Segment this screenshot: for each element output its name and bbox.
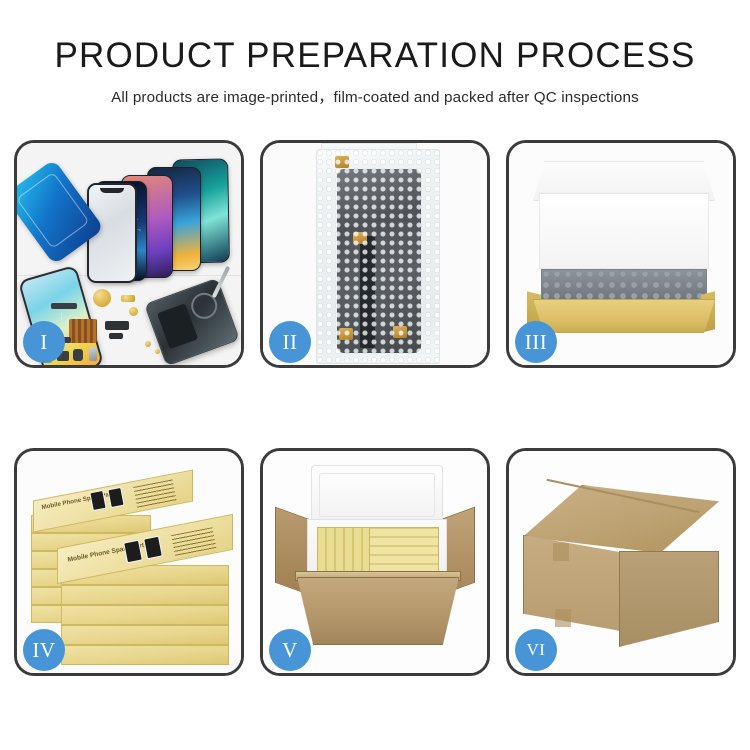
step-badge-5: V [269,629,311,671]
header: PRODUCT PREPARATION PROCESS All products… [0,0,750,107]
step-badge-4: IV [23,629,65,671]
step-panel-2[interactable]: II [260,140,490,368]
carton-body-icon [297,577,459,645]
bubble-wrap-bag-icon [316,149,440,364]
step-panel-6[interactable]: VI [506,448,736,676]
foam-lid-icon [311,465,443,525]
step-badge-3: III [515,321,557,363]
step-badge-1: I [23,321,65,363]
page-subtitle: All products are image-printed，film-coat… [0,85,750,107]
product-preparation-infographic: PRODUCT PREPARATION PROCESS All products… [0,0,750,750]
tape-patch-top-icon [553,543,569,561]
packed-boxes-secondary-icon [369,527,439,573]
steps-grid: I II [14,140,736,676]
boxes-stack-icon: Mobile Phone Spare Parts Mobile Phone Sp… [31,469,231,665]
step-panel-4[interactable]: Mobile Phone Spare Parts Mobile Phone Sp… [14,448,244,676]
step-panel-5[interactable]: V [260,448,490,676]
page-title: PRODUCT PREPARATION PROCESS [0,36,750,76]
kraft-box-front-icon [533,299,715,333]
tape-patch-bottom-icon [555,609,571,627]
bubble-padding-icon [541,269,707,301]
foam-sheet-icon [539,193,709,269]
step-badge-2: II [269,321,311,363]
step-panel-1[interactable]: I [14,140,244,368]
step-badge-6: VI [515,629,557,671]
step-panel-3[interactable]: III [506,140,736,368]
